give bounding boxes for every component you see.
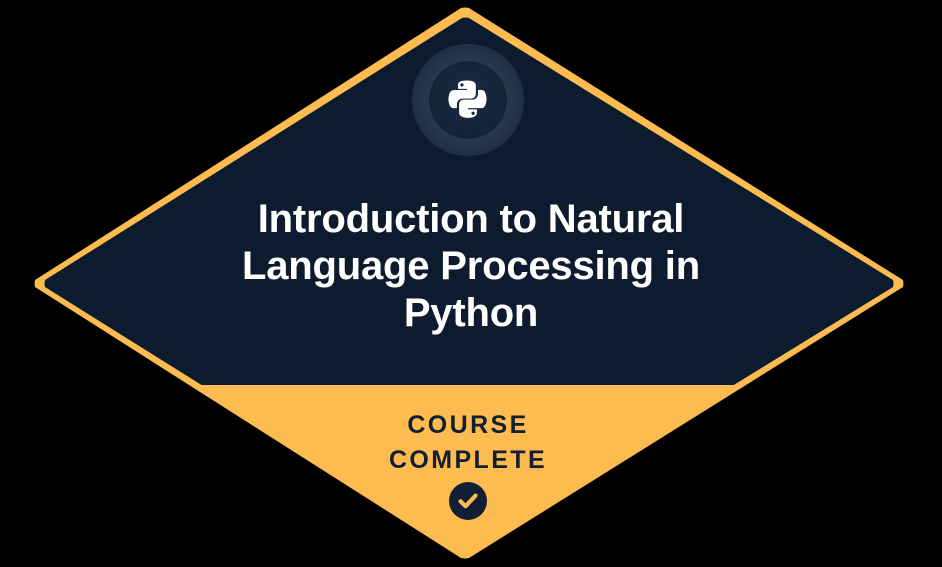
course-title: Introduction to Natural Language Process… — [180, 196, 762, 337]
badge-container: Introduction to Natural Language Process… — [0, 0, 942, 567]
check-circle-icon — [449, 482, 487, 520]
status-badge-label: COURSE COMPLETE — [231, 408, 705, 478]
